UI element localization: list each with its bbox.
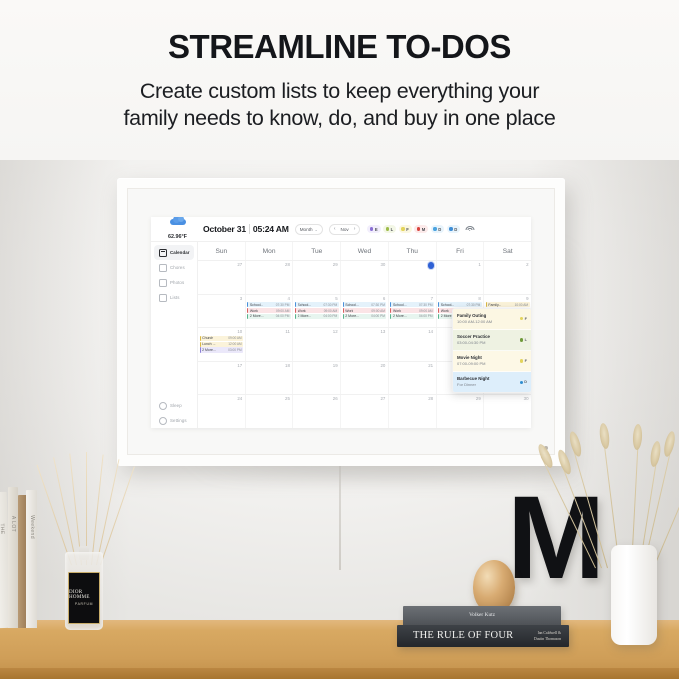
day-number: 4 [247, 296, 291, 302]
owner-initial: F [525, 317, 527, 321]
event-chip-title: School... [345, 303, 359, 307]
book-stack-top: Volker Kutz [403, 606, 561, 626]
member-initial: F [406, 227, 409, 232]
day-header-wed: Wed [341, 242, 389, 260]
member-color-dot [417, 227, 420, 230]
event-chip[interactable]: 2 More...03:00 PM [200, 347, 244, 352]
day-number: 27 [343, 396, 387, 402]
calendar-day-cell[interactable]: 1 [437, 261, 485, 294]
event-chip[interactable]: School...07:30 PM [390, 302, 434, 307]
calendar-day-cell[interactable]: 25 [246, 395, 294, 428]
calendar-day-cell[interactable]: 6School...07:30 PMWork09:00 AM2 More...0… [341, 295, 389, 328]
day-number: 8 [438, 296, 482, 302]
day-number: 28 [390, 396, 434, 402]
sleep-icon [159, 402, 167, 410]
sidebar-item-label: Lists [170, 295, 180, 300]
event-chip-title: Lunch ... [202, 342, 215, 346]
member-chip-e-0[interactable]: E [367, 225, 380, 233]
popover-event-text: Soccer Practice03:00-04:30 PM [457, 334, 490, 347]
prev-month-icon[interactable]: ‹ [332, 226, 338, 232]
book-spine-text-4: Weekend [29, 515, 35, 539]
author-line-1: Ian Caldwell & [538, 631, 561, 635]
day-number: 13 [343, 329, 387, 335]
calendar-day-cell[interactable]: 26 [293, 395, 341, 428]
member-chip-m-3[interactable]: M [414, 225, 428, 233]
event-chip-time: 04:00 PM [371, 314, 385, 318]
day-number: 25 [247, 396, 291, 402]
event-chip[interactable]: 2 More...04:00 PM [343, 314, 387, 319]
today-marker [428, 262, 435, 269]
event-chip[interactable]: School...07:30 PM [343, 302, 387, 307]
calendar-day-cell[interactable] [389, 261, 437, 294]
event-chip[interactable]: School...07:30 PM [295, 302, 339, 307]
popover-event-item[interactable]: Barbecue NightFor DinnerD [453, 372, 531, 392]
calendar-day-cell[interactable]: 2 [484, 261, 531, 294]
month-label: Nov [339, 227, 351, 232]
owner-initial: L [525, 338, 527, 342]
diffuser-bottle: DIOR HOMME PARFUM [65, 552, 103, 630]
day-event-list: School...07:30 PMWork09:00 AM2 More...04… [295, 302, 339, 319]
owner-color-dot [520, 338, 523, 341]
event-chip[interactable]: Work09:00 AM [295, 308, 339, 313]
popover-event-owner: F [520, 359, 527, 363]
calendar-app-screen: 62.96°F October 31 05:24 AM Month ⌄ ‹ No… [151, 217, 531, 428]
event-chip-title: 2 More... [393, 314, 407, 318]
owner-color-dot [520, 317, 523, 320]
event-chip-title: Work [393, 309, 401, 313]
member-chip-d-4[interactable]: D [431, 225, 445, 233]
member-initial: L [391, 227, 394, 232]
diffuser-brand: DIOR HOMME [69, 590, 99, 600]
popover-event-item[interactable]: Soccer Practice03:00-04:30 PML [453, 330, 531, 351]
event-chip-title: School... [298, 303, 312, 307]
day-number: 6 [343, 296, 387, 302]
owner-color-dot [520, 359, 523, 362]
calendar-day-cell[interactable]: 20 [341, 362, 389, 395]
calendar-panel: SunMonTueWedThuFriSat 272829301234School… [198, 242, 531, 428]
calendar-week-5: 24252627282930 [198, 395, 531, 428]
month-navigation[interactable]: ‹ Nov › [329, 224, 361, 235]
popover-event-owner: D [520, 380, 527, 384]
day-number: 19 [295, 363, 339, 369]
calendar-day-cell[interactable]: 11 [246, 328, 294, 361]
calendar-day-cell[interactable]: 30 [341, 261, 389, 294]
calendar-day-cell[interactable]: 27 [198, 261, 246, 294]
day-number: 17 [200, 363, 244, 369]
current-time-label: 05:24 AM [253, 224, 289, 234]
day-event-list: School...07:30 PMWork09:00 AM2 More...04… [390, 302, 434, 319]
day-number: 5 [295, 296, 339, 302]
popover-event-title: Movie Night [457, 355, 485, 362]
calendar-day-cell[interactable]: 13 [341, 328, 389, 361]
book-stack-top-title: Volker Kutz [469, 612, 495, 618]
wifi-icon[interactable] [465, 226, 474, 233]
subtitle-line-2: family needs to know, do, and buy in one… [0, 105, 679, 133]
app-sidebar: CalendarChoresPhotosListsSleepSettings [151, 242, 198, 428]
popover-event-owner: F [520, 317, 527, 321]
sidebar-item-label: Photos [170, 280, 184, 285]
view-selector-dropdown[interactable]: Month ⌄ [295, 224, 323, 235]
member-chip-l-1[interactable]: L [383, 225, 396, 233]
member-color-dot [433, 227, 436, 230]
book-stack-bottom: THE RULE OF FOUR Ian Caldwell & Dustin T… [397, 625, 569, 647]
event-chip-title: School... [250, 303, 264, 307]
event-chip-title: Work [298, 309, 306, 313]
calendar-day-cell[interactable]: 14 [389, 328, 437, 361]
member-color-dot [386, 227, 389, 230]
calendar-day-cell[interactable]: 27 [341, 395, 389, 428]
sidebar-item-label: Settings [170, 418, 187, 423]
day-number: 10 [200, 329, 244, 335]
event-chip-time: 03:00 PM [228, 348, 242, 352]
calendar-day-cell[interactable]: 5School...07:30 PMWork09:00 AM2 More...0… [293, 295, 341, 328]
popover-event-subtitle: 07:00-09:00 PM [457, 361, 485, 367]
book-stack-bottom-authors: Ian Caldwell & Dustin Thomason [534, 631, 561, 642]
event-chip-title: School... [393, 303, 407, 307]
event-chip-time: 07:30 PM [371, 303, 385, 307]
event-chip[interactable]: 2 More...04:00 PM [295, 314, 339, 319]
next-month-icon[interactable]: › [352, 226, 358, 232]
member-initial: E [375, 227, 378, 232]
event-chip-time: 09:00 AM [324, 309, 337, 313]
owner-initial: D [524, 380, 527, 384]
day-event-list: Church09:00 AMLunch ...12:00 AM2 More...… [200, 336, 244, 353]
pampas-plume-8 [649, 441, 662, 468]
calendar-day-cell[interactable]: 18 [246, 362, 294, 395]
member-filter-list: ELFMDD [367, 225, 460, 233]
reed-diffuser: DIOR HOMME PARFUM [55, 455, 113, 630]
topbar-divider [249, 224, 250, 234]
day-number: 18 [247, 363, 291, 369]
diffuser-type: PARFUM [75, 602, 93, 606]
day-header-sun: Sun [198, 242, 246, 260]
calendar-day-cell[interactable]: 21 [389, 362, 437, 395]
event-detail-popover[interactable]: Family Outing10:00 AM-12:00 AMFSoccer Pr… [452, 308, 531, 393]
calendar-day-cell[interactable]: 24 [198, 395, 246, 428]
day-event-list: School...07:30 PMWork09:00 AM2 More...04… [343, 302, 387, 319]
event-chip[interactable]: Work09:00 AM [247, 308, 291, 313]
event-chip-title: Work [250, 309, 258, 313]
temperature-label: 62.96°F [168, 234, 187, 240]
subtitle-line-1: Create custom lists to keep everything y… [0, 78, 679, 106]
event-chip-title: Work [345, 309, 353, 313]
diffuser-label: DIOR HOMME PARFUM [68, 572, 100, 624]
popover-event-owner: L [520, 338, 527, 342]
white-vase [611, 545, 657, 645]
sidebar-item-lists[interactable]: Lists [154, 290, 194, 305]
event-chip-time: 04:00 PM [276, 314, 290, 318]
calendar-day-cell[interactable]: 28 [389, 395, 437, 428]
day-header-fri: Fri [437, 242, 485, 260]
owner-color-dot [520, 381, 523, 384]
popover-event-title: Soccer Practice [457, 334, 490, 341]
event-chip[interactable]: Church09:00 AM [200, 336, 244, 341]
event-chip-time: 04:00 PM [324, 314, 338, 318]
event-chip-time: 09:00 AM [276, 309, 289, 313]
page-title: STREAMLINE TO-DOS [0, 30, 679, 65]
calendar-day-cell[interactable]: 12 [293, 328, 341, 361]
event-chip-title: 2 More... [298, 314, 312, 318]
app-topbar: 62.96°F October 31 05:24 AM Month ⌄ ‹ No… [151, 217, 531, 242]
member-color-dot [370, 227, 373, 230]
sidebar-item-label: Calendar [170, 250, 190, 255]
sidebar-item-label: Sleep [170, 403, 182, 408]
diffuser-reed-5 [91, 455, 104, 566]
day-number: 11 [247, 329, 291, 335]
member-initial: D [454, 227, 457, 232]
calendar-day-cell[interactable]: 4School...07:30 PMWork09:00 AM2 More...0… [246, 295, 294, 328]
calendar-day-cell[interactable]: 17 [198, 362, 246, 395]
event-chip-title: Church [202, 336, 213, 340]
day-number: 14 [390, 329, 434, 335]
calendar-day-cell[interactable]: 29 [437, 395, 485, 428]
popover-event-text: Movie Night07:00-09:00 PM [457, 355, 485, 368]
popover-event-item[interactable]: Family Outing10:00 AM-12:00 AMF [453, 309, 531, 330]
event-chip-title: 2 More... [345, 314, 359, 318]
sidebar-spacer [151, 305, 197, 398]
sidebar-item-label: Chores [170, 265, 185, 270]
day-number: 12 [295, 329, 339, 335]
calendar-day-cell[interactable]: 29 [293, 261, 341, 294]
event-chip-time: 07:30 PM [276, 303, 290, 307]
member-chip-f-2[interactable]: F [399, 225, 412, 233]
event-chip[interactable]: 2 More...04:00 PM [390, 314, 434, 319]
day-event-list: School...07:30 PMWork09:00 AM2 More...04… [247, 302, 291, 319]
sidebar-item-settings[interactable]: Settings [154, 413, 194, 428]
event-chip[interactable]: Family...10:00 AM [486, 302, 530, 307]
popover-event-item[interactable]: Movie Night07:00-09:00 PMF [453, 351, 531, 372]
day-number: 2 [486, 262, 530, 268]
book-stack-bottom-title: THE RULE OF FOUR [413, 630, 513, 641]
day-number: 24 [200, 396, 244, 402]
desk-front-face [0, 668, 679, 679]
calendar-day-cell[interactable]: 19 [293, 362, 341, 395]
view-selector-label: Month [300, 227, 313, 232]
sidebar-item-photos[interactable]: Photos [154, 275, 194, 290]
basket-icon [159, 264, 167, 272]
calendar-day-cell[interactable]: 30 [484, 395, 531, 428]
day-number: 1 [438, 262, 482, 268]
popover-event-subtitle: For Dinner [457, 382, 489, 388]
day-header-thu: Thu [389, 242, 437, 260]
day-number: 30 [486, 396, 530, 402]
day-header-sat: Sat [484, 242, 531, 260]
frame-mat: 62.96°F October 31 05:24 AM Month ⌄ ‹ No… [127, 188, 555, 455]
current-date-label: October 31 [203, 224, 246, 234]
book-spine-text-2: A LOT [10, 516, 16, 532]
event-chip[interactable]: School...07:30 PM [247, 302, 291, 307]
member-initial: M [422, 227, 426, 232]
event-chip-time: 07:30 PM [467, 303, 481, 307]
popover-event-text: Family Outing10:00 AM-12:00 AM [457, 313, 492, 326]
popover-event-title: Barbecue Night [457, 376, 489, 383]
event-chip[interactable]: Work09:00 AM [390, 308, 434, 313]
book-spine-text-1: THE [0, 523, 5, 534]
day-header-tue: Tue [293, 242, 341, 260]
event-chip-time: 09:00 AM [419, 309, 432, 313]
event-chip[interactable]: 2 More...04:00 PM [247, 314, 291, 319]
event-chip-title: Family... [488, 303, 501, 307]
event-chip-time: 04:00 PM [419, 314, 433, 318]
owner-initial: F [525, 359, 527, 363]
event-chip-title: School... [441, 303, 455, 307]
gear-icon [159, 417, 167, 425]
weather-widget[interactable]: 62.96°F [154, 217, 201, 242]
day-number: 30 [343, 262, 387, 268]
author-line-2: Dustin Thomason [534, 637, 561, 641]
app-body: CalendarChoresPhotosListsSleepSettings S… [151, 242, 531, 428]
day-number: 21 [390, 363, 434, 369]
member-chip-d-5[interactable]: D [447, 225, 461, 233]
pampas-plume-4 [633, 424, 643, 450]
day-number: 3 [200, 296, 244, 302]
popover-event-text: Barbecue NightFor Dinner [457, 376, 489, 389]
popover-event-title: Family Outing [457, 313, 492, 320]
day-number: 29 [295, 262, 339, 268]
power-cable [339, 462, 341, 570]
page-subtitle: Create custom lists to keep everything y… [0, 78, 679, 133]
photo-icon [159, 279, 167, 287]
day-number: 28 [247, 262, 291, 268]
cloud-icon [170, 217, 186, 225]
event-chip-time: 09:00 AM [371, 309, 384, 313]
event-chip-title: 2 More... [202, 348, 216, 352]
event-chip[interactable]: Lunch ...12:00 AM [200, 342, 244, 347]
day-number: 27 [200, 262, 244, 268]
list-icon [159, 294, 167, 302]
calendar-day-cell[interactable]: 7School...07:30 PMWork09:00 AM2 More...0… [389, 295, 437, 328]
member-initial: D [438, 227, 441, 232]
event-chip[interactable]: Work09:00 AM [343, 308, 387, 313]
calendar-day-cell[interactable]: 28 [246, 261, 294, 294]
event-chip[interactable]: School...07:30 PM [438, 302, 482, 307]
event-chip-time: 09:00 AM [228, 336, 241, 340]
chevron-down-icon: ⌄ [315, 227, 318, 232]
member-color-dot [449, 227, 452, 230]
day-header-mon: Mon [246, 242, 294, 260]
smart-display-frame: 62.96°F October 31 05:24 AM Month ⌄ ‹ No… [117, 178, 565, 466]
event-chip-time: 12:00 AM [228, 342, 241, 346]
sidebar-item-chores[interactable]: Chores [154, 260, 194, 275]
event-chip-time: 07:30 PM [324, 303, 338, 307]
day-of-week-header: SunMonTueWedThuFriSat [198, 242, 531, 261]
sidebar-item-sleep[interactable]: Sleep [154, 398, 194, 413]
member-color-dot [401, 227, 404, 230]
day-number: 26 [295, 396, 339, 402]
day-number: 20 [343, 363, 387, 369]
marketing-headline-block: STREAMLINE TO-DOS Create custom lists to… [0, 0, 679, 160]
event-chip-title: Work [441, 309, 449, 313]
day-number: 9 [486, 296, 530, 302]
calendar-week-1: 2728293012 [198, 261, 531, 295]
event-chip-time: 10:00 AM [515, 303, 528, 307]
popover-event-subtitle: 03:00-04:30 PM [457, 340, 490, 346]
event-chip-title: 2 More... [250, 314, 264, 318]
calendar-icon [159, 249, 167, 257]
day-number: 29 [438, 396, 482, 402]
calendar-day-cell[interactable]: 3 [198, 295, 246, 328]
sidebar-item-calendar[interactable]: Calendar [154, 245, 194, 260]
event-chip-time: 07:30 PM [419, 303, 433, 307]
popover-event-subtitle: 10:00 AM-12:00 AM [457, 319, 492, 325]
day-number: 7 [390, 296, 434, 302]
calendar-day-cell[interactable]: 10Church09:00 AMLunch ...12:00 AM2 More.… [198, 328, 246, 361]
